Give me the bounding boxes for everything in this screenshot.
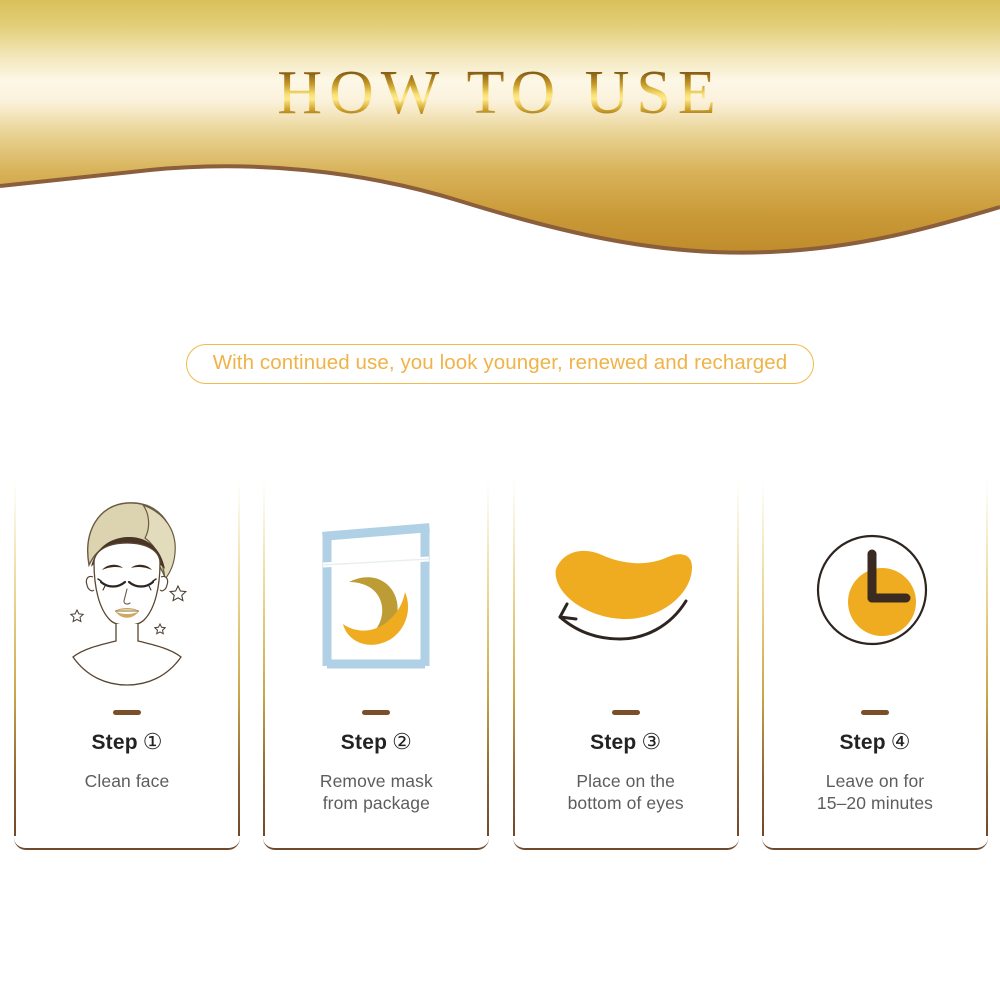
steps-row: Step① Clean face xyxy=(14,478,988,850)
step-3-number: ③ xyxy=(641,729,661,754)
sparkle-star-icon xyxy=(71,610,83,622)
step-4-description: Leave on for 15–20 minutes xyxy=(762,770,988,814)
step-1-label: Step① xyxy=(14,731,240,753)
step-4-label: Step④ xyxy=(762,731,988,753)
header-banner: HOW TO USE xyxy=(0,0,1000,275)
step-card-1[interactable]: Step① Clean face xyxy=(14,478,240,850)
sparkle-star-icon xyxy=(170,586,186,601)
step-card-2[interactable]: Step② Remove mask from package xyxy=(263,478,489,850)
step-divider-dash xyxy=(861,710,889,715)
step-divider-dash xyxy=(612,710,640,715)
step-2-number: ② xyxy=(392,729,412,754)
step-card-4[interactable]: Step④ Leave on for 15–20 minutes xyxy=(762,478,988,850)
step-2-label: Step② xyxy=(263,731,489,753)
step-divider-dash xyxy=(362,710,390,715)
step-1-number: ① xyxy=(143,729,163,754)
header-wave-shape xyxy=(0,0,1000,275)
step-3-label: Step③ xyxy=(513,731,739,753)
mask-package-icon xyxy=(301,498,451,688)
tagline-pill: With continued use, you look younger, re… xyxy=(186,344,815,384)
step-3-word: Step xyxy=(590,731,636,754)
step-2-description: Remove mask from package xyxy=(263,770,489,814)
tagline-container: With continued use, you look younger, re… xyxy=(0,344,1000,384)
step-4-number: ④ xyxy=(891,729,911,754)
arrow-head xyxy=(560,604,576,619)
step-card-3[interactable]: Step③ Place on the bottom of eyes xyxy=(513,478,739,850)
step-3-footer: Step③ Place on the bottom of eyes xyxy=(513,710,739,814)
page-title: HOW TO USE xyxy=(0,62,1000,124)
woman-face-icon xyxy=(47,491,207,696)
step-2-footer: Step② Remove mask from package xyxy=(263,710,489,814)
step-3-illustration xyxy=(513,478,739,708)
eye-patch-shape xyxy=(555,551,691,619)
step-3-description: Place on the bottom of eyes xyxy=(513,770,739,814)
step-4-footer: Step④ Leave on for 15–20 minutes xyxy=(762,710,988,814)
step-4-illustration xyxy=(762,478,988,708)
step-1-illustration xyxy=(14,478,240,708)
step-1-footer: Step① Clean face xyxy=(14,710,240,792)
step-1-description: Clean face xyxy=(14,770,240,792)
step-2-word: Step xyxy=(341,731,387,754)
eye-patch-arrow-icon xyxy=(536,523,716,663)
step-divider-dash xyxy=(113,710,141,715)
sparkle-star-icon xyxy=(155,624,165,634)
step-1-word: Step xyxy=(91,731,137,754)
clock-icon xyxy=(810,528,940,658)
step-4-word: Step xyxy=(839,731,885,754)
step-2-illustration xyxy=(263,478,489,708)
